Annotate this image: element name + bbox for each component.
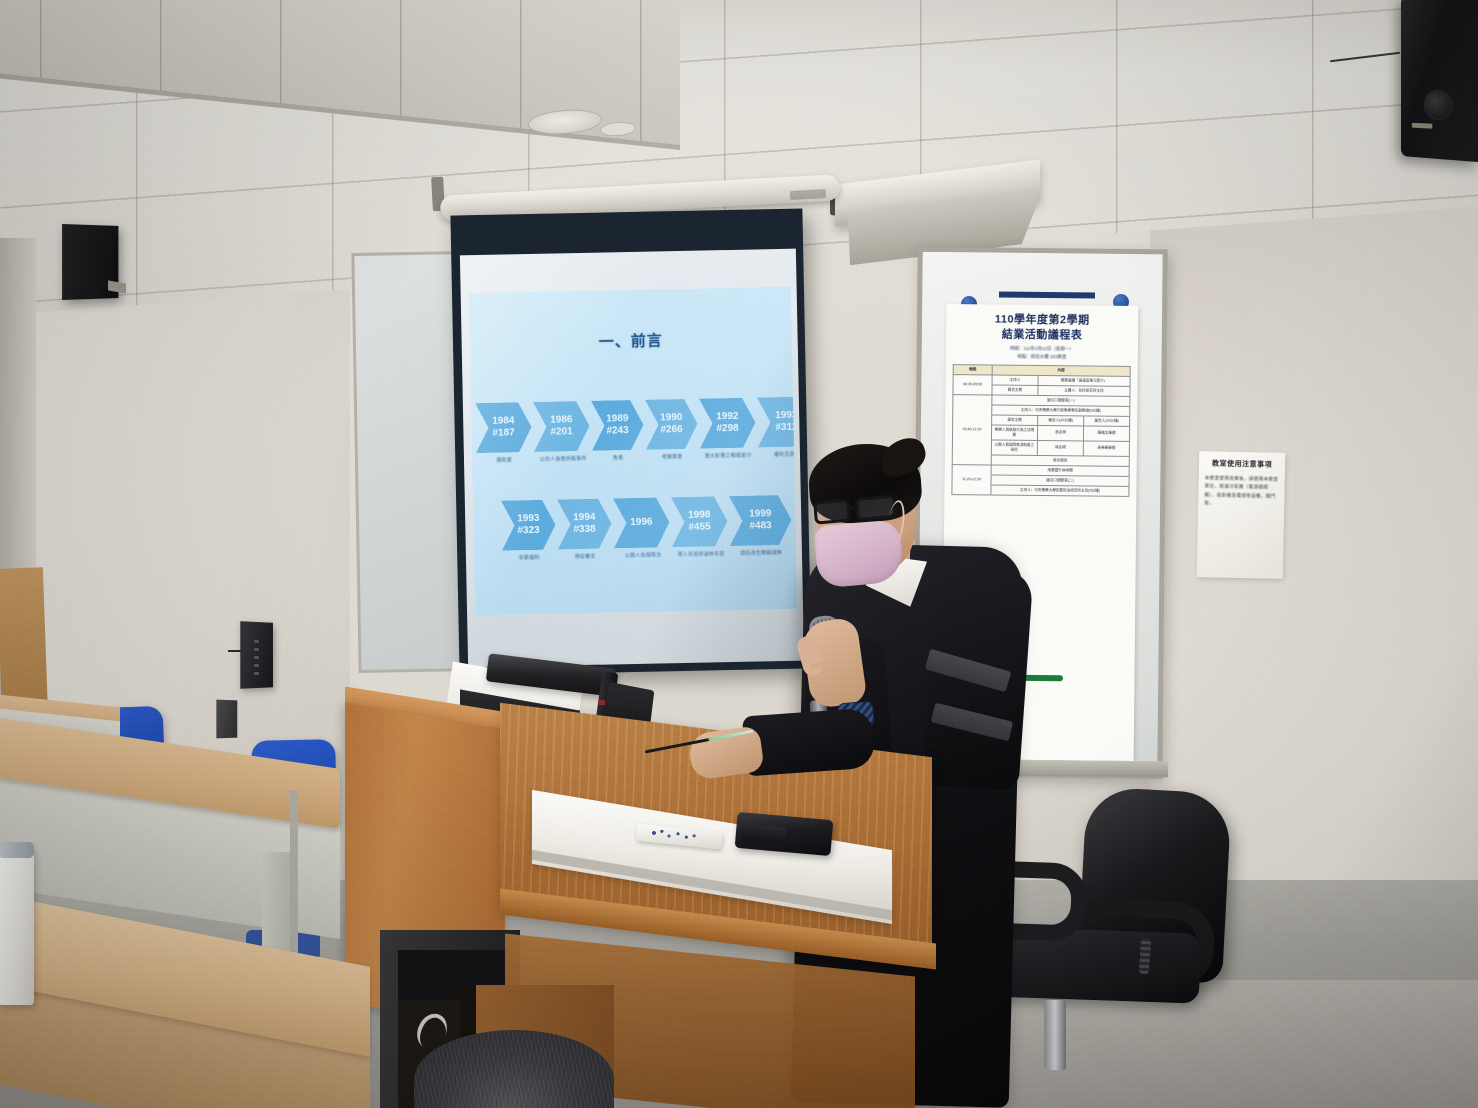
presenter-right-forearm [742, 708, 876, 777]
chevron-year: 1986 [550, 414, 572, 426]
speaker-brand-plate [1412, 123, 1432, 129]
classroom-notice-paper: 教室使用注意事項 本教室使用完畢後，請使用本教室單位，熄滅冷氣機（電源總開關）、… [1197, 451, 1286, 579]
wall-speaker-right [1401, 0, 1478, 162]
chevron-year: 1989 [606, 413, 628, 425]
timeline-caption: 公務人員保障法 [614, 552, 672, 560]
timeline-item: 1986 #201 公共人身意外險事件 [533, 401, 592, 464]
chevron-shape: 1989 #243 [591, 400, 644, 451]
timeline-item: 1996 公務人員保障法 [613, 497, 672, 560]
chevron-year: 1993 [517, 513, 539, 525]
chevron-year: 1996 [630, 517, 652, 529]
agenda-cell: 陳福主陳德 [1083, 426, 1129, 442]
chevron-shape: 1994 #338 [557, 498, 612, 549]
projected-slide: 一、前言 1984 #187 壽險業 1986 #201 公共人身意外險事件 1… [469, 287, 797, 615]
chevron-shape: 1984 #187 [475, 402, 532, 453]
av-control-box-secondary[interactable] [216, 700, 237, 739]
chevron-number: #323 [517, 525, 539, 537]
chevron-shape: 1999 #483 [729, 495, 792, 546]
timeline-caption: 權利互助金 [758, 451, 797, 459]
agenda-time: 11:20-12:30 [952, 465, 991, 495]
agenda-time: 09:40-11:20 [952, 394, 992, 465]
timeline-caption: 重大影響之戰或處分 [700, 453, 756, 461]
slide-title: 一、前言 [470, 327, 792, 354]
av-control-box[interactable] [240, 621, 273, 689]
timeline-caption: 調任改生降級減俸 [730, 550, 792, 558]
chevron-number: #187 [492, 427, 514, 439]
chevron-shape: 1996 [613, 497, 670, 548]
timeline-caption: 壽險業 [476, 457, 532, 465]
notice-body: 本教室使用完畢後，請使用本教室單位，熄滅冷氣機（電源總開關）、投影機及電燈等設備… [1204, 474, 1279, 509]
timeline-item: 1992 #298 重大影響之戰或處分 [699, 398, 758, 461]
chevron-number: #298 [716, 423, 738, 435]
chevron-year: 1994 [573, 512, 595, 524]
classroom-scene: 一、前言 1984 #187 壽險業 1986 #201 公共人身意外險事件 1… [0, 0, 1478, 1108]
chevron-shape: 1998 #455 [671, 496, 728, 547]
white-tumbler[interactable] [0, 845, 34, 1005]
notice-heading: 教室使用注意事項 [1205, 458, 1279, 470]
chevron-shape: 1992 #298 [699, 398, 756, 449]
whiteboard-clip-bar [999, 291, 1095, 298]
chevron-number: #266 [660, 424, 682, 436]
chevron-number: #483 [749, 520, 771, 532]
timeline-item: 1984 #187 壽險業 [475, 402, 534, 465]
chevron-year: 1999 [749, 508, 771, 520]
agenda-cell: 吳美華陳德 [1083, 441, 1129, 457]
agenda-cell: 林志明 [1037, 440, 1083, 456]
chevron-shape: 1993 #312 [757, 396, 797, 447]
agenda-cell: 報告主題 [992, 415, 1038, 426]
poster-subtitle: 時間：111年2月22日（星期一） [953, 345, 1131, 353]
agenda-cell: 報告主題 [992, 385, 1038, 396]
control-led-icon [254, 640, 259, 643]
glasses-lens-left [813, 499, 851, 525]
poster-location: 地點：研究大樓 203教室 [953, 353, 1131, 361]
timeline-row-1: 1984 #187 壽險業 1986 #201 公共人身意外險事件 1989 #… [475, 396, 797, 465]
agenda-cell: 公務人員保障救濟制度之研究 [991, 440, 1037, 456]
chevron-number: #201 [550, 426, 572, 438]
chevron-number: #455 [688, 521, 710, 533]
agenda-table: 時間 內容 08:30-09:00 主持人 專題演講「高運富單元簡介」 報告主題… [951, 364, 1130, 497]
timeline-item: 1990 #266 考績獎金 [645, 399, 700, 462]
chevron-number: #338 [573, 524, 595, 536]
timeline-row-2: 1993 #323 年薪福利 1994 #338 停征審定 1996 公務人員保… [501, 495, 794, 563]
chevron-year: 1990 [660, 412, 682, 424]
timeline-item: 1993 #312 權利互助金 [757, 396, 797, 459]
chevron-shape: 1993 #323 [501, 500, 556, 551]
agenda-cell: 報告人(20分鐘) [1084, 416, 1130, 427]
agenda-cell: 報告人(20分鐘) [1038, 415, 1084, 426]
timeline-caption: 免責 [592, 455, 644, 463]
agenda-cell: 主持人：中央警察大學犯罪防治研究所主任(5分鐘) [991, 485, 1129, 496]
agenda-cell: 主持人 [992, 375, 1038, 386]
monitor-power-indicator [598, 700, 606, 706]
timeline-item: 1999 #483 調任改生降級減俸 [729, 495, 794, 558]
speaker-woofer-icon [1424, 90, 1453, 121]
agenda-cell: 林志明 [1037, 425, 1083, 441]
poster-heading-line2: 結業活動議程表 [953, 327, 1131, 344]
timeline-item: 1994 #338 停征審定 [557, 498, 614, 561]
chevron-year: 1984 [492, 416, 514, 428]
timeline-caption: 公共人身意外險事件 [534, 456, 592, 464]
office-chair-gas-cylinder [1044, 1000, 1066, 1070]
timeline-item: 1998 #455 軍人年資併退休年資 [671, 496, 730, 559]
tumbler-lid[interactable] [0, 842, 34, 858]
timeline-caption: 考績獎金 [646, 454, 698, 462]
agenda-cell: 警察人員執勤行為之法規範 [991, 425, 1037, 441]
agenda-time: 08:30-09:00 [953, 374, 992, 394]
timeline-item: 1989 #243 免責 [591, 400, 646, 463]
timeline-caption: 軍人年資併退休年資 [672, 551, 730, 559]
screen-brand-logo [790, 189, 826, 200]
chevron-number: #243 [606, 425, 628, 437]
chevron-year: 1998 [688, 510, 710, 522]
timeline-caption: 停征審定 [558, 553, 612, 561]
chevron-shape: 1986 #201 [533, 401, 590, 452]
agenda-col-time: 時間 [953, 364, 992, 374]
chevron-year: 1992 [716, 411, 738, 423]
timeline-caption: 年薪福利 [502, 555, 556, 563]
timeline-item: 1993 #323 年薪福利 [501, 500, 558, 563]
chevron-shape: 1990 #266 [645, 399, 698, 450]
